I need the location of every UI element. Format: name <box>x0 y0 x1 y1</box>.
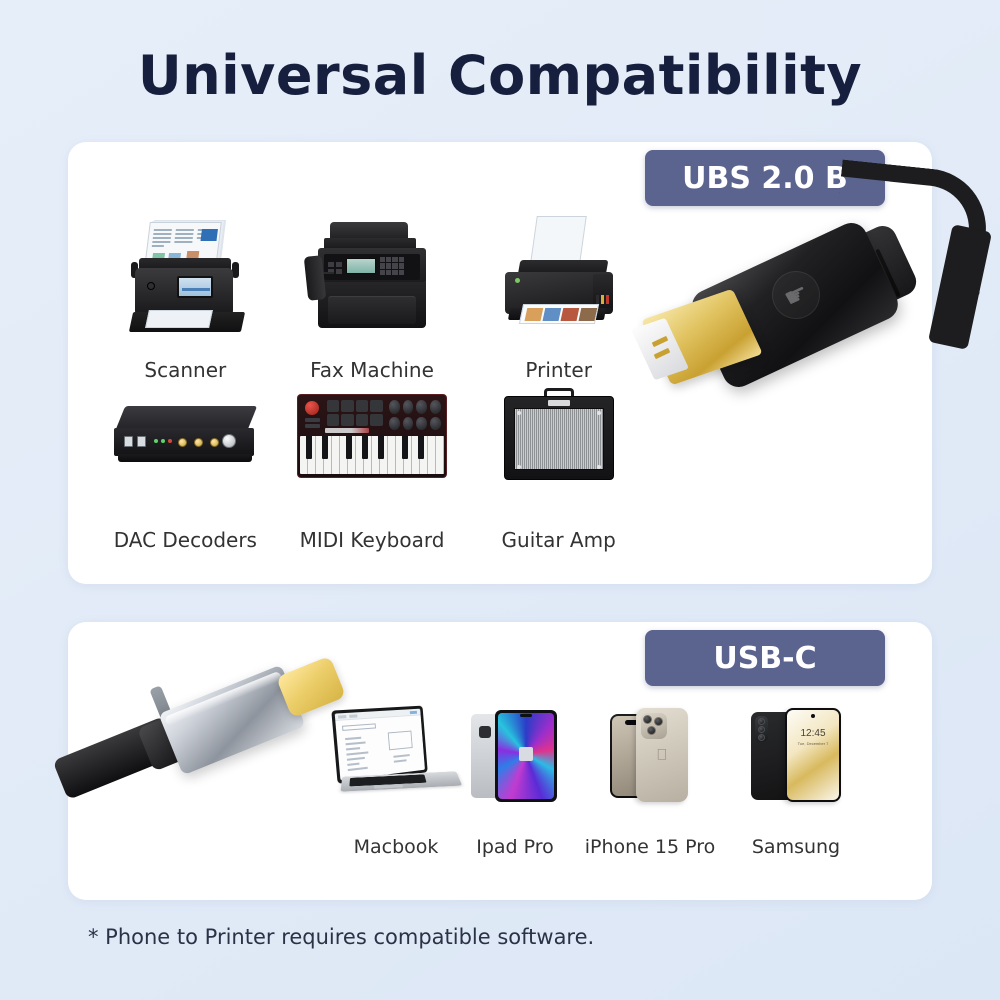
device-item-fax-machine: Fax Machine <box>279 212 466 382</box>
device-label: Fax Machine <box>310 358 434 382</box>
device-label: Macbook <box>354 836 439 858</box>
lockscreen-time: 12:45 <box>787 728 839 739</box>
device-item-samsung: 12:45 Tue, December 7 Samsung <box>726 698 866 858</box>
device-grid-usb-b: Scanner Fax Machine <box>92 212 652 552</box>
device-label: Samsung <box>752 836 840 858</box>
guitar-amp-icon <box>465 382 652 522</box>
iphone-icon:  <box>574 698 726 830</box>
android-phone-icon: 12:45 Tue, December 7 <box>726 698 866 830</box>
device-item-dac-decoders: DAC Decoders <box>92 382 279 552</box>
footnote-text: * Phone to Printer requires compatible s… <box>88 925 594 949</box>
device-item-guitar-amp: Guitar Amp <box>465 382 652 552</box>
fax-machine-icon <box>279 212 466 352</box>
device-label: Printer <box>525 358 592 382</box>
device-item-iphone-15-pro:  iPhone 15 Pro <box>574 698 726 858</box>
device-label: DAC Decoders <box>114 528 257 552</box>
usb-b-connector-image: ☛ <box>640 175 950 475</box>
page-title: Universal Compatibility <box>0 44 1000 107</box>
lockscreen-date: Tue, December 7 <box>787 741 839 746</box>
device-label: MIDI Keyboard <box>300 528 445 552</box>
inkjet-printer-icon <box>465 212 652 352</box>
dac-decoder-icon <box>92 382 279 522</box>
usb-c-connector-image <box>60 645 360 845</box>
device-item-ipad-pro: Ipad Pro <box>456 698 574 858</box>
device-label: Ipad Pro <box>476 836 554 858</box>
device-label: Guitar Amp <box>502 528 616 552</box>
badge-usb-c: USB-C <box>645 630 885 686</box>
device-label: Scanner <box>144 358 226 382</box>
device-item-midi-keyboard: MIDI Keyboard <box>279 382 466 552</box>
midi-keyboard-icon <box>279 382 466 522</box>
tablet-icon <box>456 698 574 830</box>
device-grid-usb-c: Macbook Ipad Pro <box>336 698 908 858</box>
document-scanner-icon <box>92 212 279 352</box>
device-label: iPhone 15 Pro <box>585 836 716 858</box>
apple-logo-icon:  <box>656 747 667 764</box>
device-item-scanner: Scanner <box>92 212 279 382</box>
device-item-printer: Printer <box>465 212 652 382</box>
